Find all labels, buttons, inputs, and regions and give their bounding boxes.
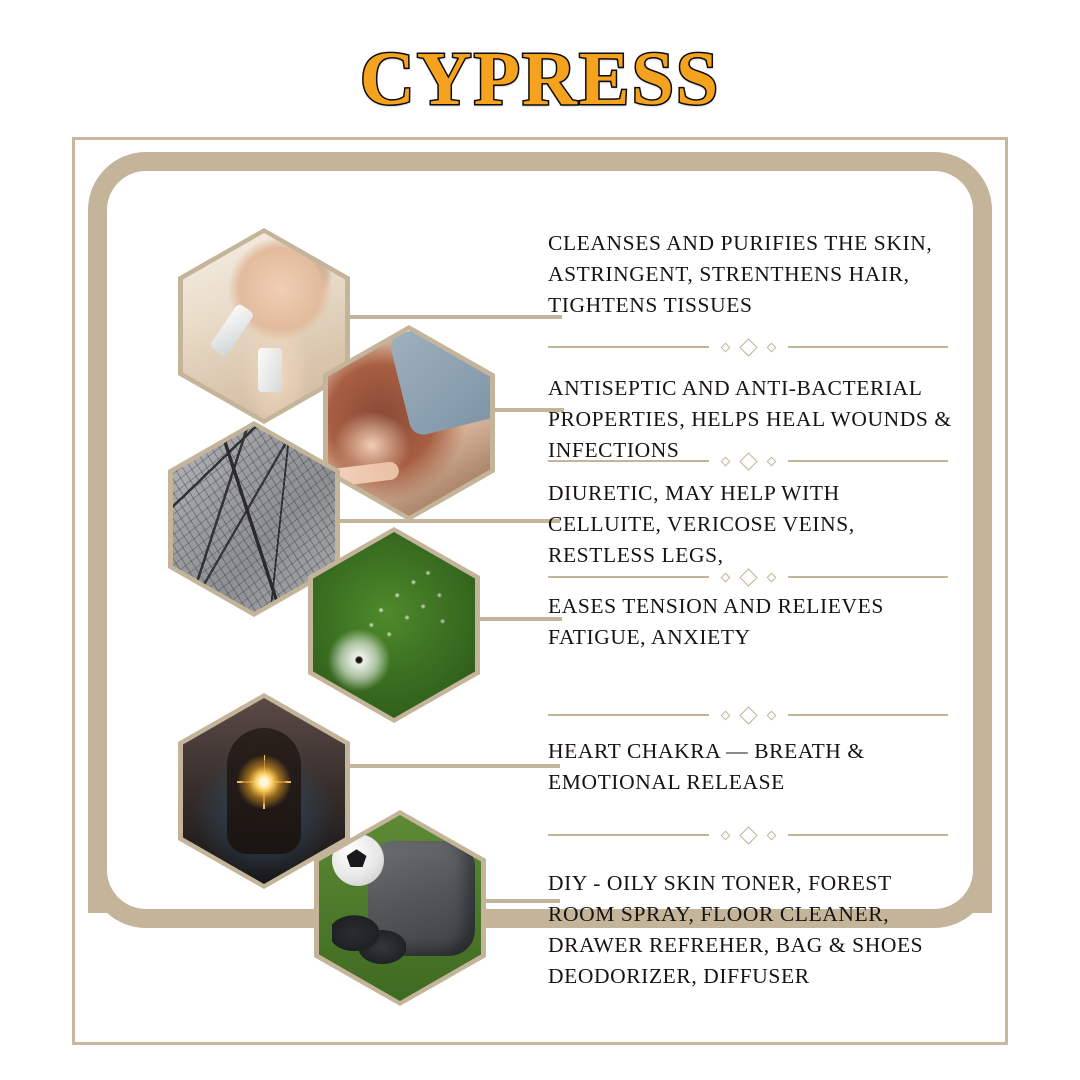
divider-rule-left	[548, 576, 709, 578]
page-title: CYPRESS	[0, 36, 1080, 122]
divider-rule-left	[548, 834, 709, 836]
divider-4	[548, 706, 948, 724]
fact-text-skin: CLEANSES AND PURIFIES THE SKIN, ASTRINGE…	[548, 228, 952, 321]
diamond-small-left-icon	[720, 572, 730, 582]
frame-arm-right	[973, 267, 992, 913]
connector-line-3	[322, 519, 560, 523]
diamond-small-left-icon	[720, 456, 730, 466]
hexagon-inner-clip-1	[183, 233, 345, 419]
fact-text-diy: DIY - OILY SKIN TONER, FOREST ROOM SPRAY…	[548, 868, 952, 992]
diamond-large-icon	[739, 826, 757, 844]
divider-3	[548, 568, 948, 586]
fact-text-diuretic: DIURETIC, MAY HELP WITH CELLUITE, VERICO…	[548, 478, 952, 571]
diamond-small-right-icon	[766, 342, 776, 352]
fact-block-skin: CLEANSES AND PURIFIES THE SKIN, ASTRINGE…	[548, 228, 952, 321]
divider-rule-right	[788, 576, 949, 578]
hexagon-inner-clip-2	[328, 330, 490, 516]
diamond-small-left-icon	[720, 342, 730, 352]
knee-wound-photo	[328, 330, 490, 516]
connector-line-1	[330, 315, 562, 319]
dandelion-seeds-photo	[313, 532, 475, 718]
divider-rule-left	[548, 346, 709, 348]
hexagon-inner-clip-4	[313, 532, 475, 718]
hexagon-inner-clip-6	[319, 815, 481, 1001]
diamond-small-left-icon	[720, 830, 730, 840]
divider-rule-right	[788, 834, 949, 836]
frame-arm-left	[88, 267, 107, 913]
fact-text-chakra: HEART CHAKRA — BREATH & EMOTIONAL RELEAS…	[548, 736, 952, 798]
diamond-small-right-icon	[766, 572, 776, 582]
diamond-small-left-icon	[720, 710, 730, 720]
fact-text-tension: EASES TENSION AND RELIEVES FATIGUE, ANXI…	[548, 591, 952, 653]
divider-rule-right	[788, 346, 949, 348]
infographic-page: { "title": "CYPRESS", "theme": { "title_…	[0, 0, 1080, 1080]
diamond-large-icon	[739, 568, 757, 586]
frame-arm-top	[203, 152, 877, 171]
fact-block-chakra: HEART CHAKRA — BREATH & EMOTIONAL RELEAS…	[548, 736, 952, 798]
divider-rule-left	[548, 460, 709, 462]
woman-applying-serum-photo	[183, 233, 345, 419]
divider-5	[548, 826, 948, 844]
diamond-small-right-icon	[766, 830, 776, 840]
diamond-large-icon	[739, 338, 757, 356]
divider-rule-right	[788, 460, 949, 462]
fact-block-tension: EASES TENSION AND RELIEVES FATIGUE, ANXI…	[548, 591, 952, 653]
divider-2	[548, 452, 948, 470]
diamond-small-right-icon	[766, 456, 776, 466]
sports-bag-photo	[319, 815, 481, 1001]
diamond-small-right-icon	[766, 710, 776, 720]
divider-rule-left	[548, 714, 709, 716]
connector-line-5	[330, 764, 560, 768]
divider-rule-right	[788, 714, 949, 716]
diamond-large-icon	[739, 452, 757, 470]
fact-block-diy: DIY - OILY SKIN TONER, FOREST ROOM SPRAY…	[548, 868, 952, 992]
divider-1	[548, 338, 948, 356]
corner-ornament-top-left	[88, 152, 206, 270]
title-container: CYPRESS	[0, 36, 1080, 126]
fact-block-diuretic: DIURETIC, MAY HELP WITH CELLUITE, VERICO…	[548, 478, 952, 571]
diamond-large-icon	[739, 706, 757, 724]
